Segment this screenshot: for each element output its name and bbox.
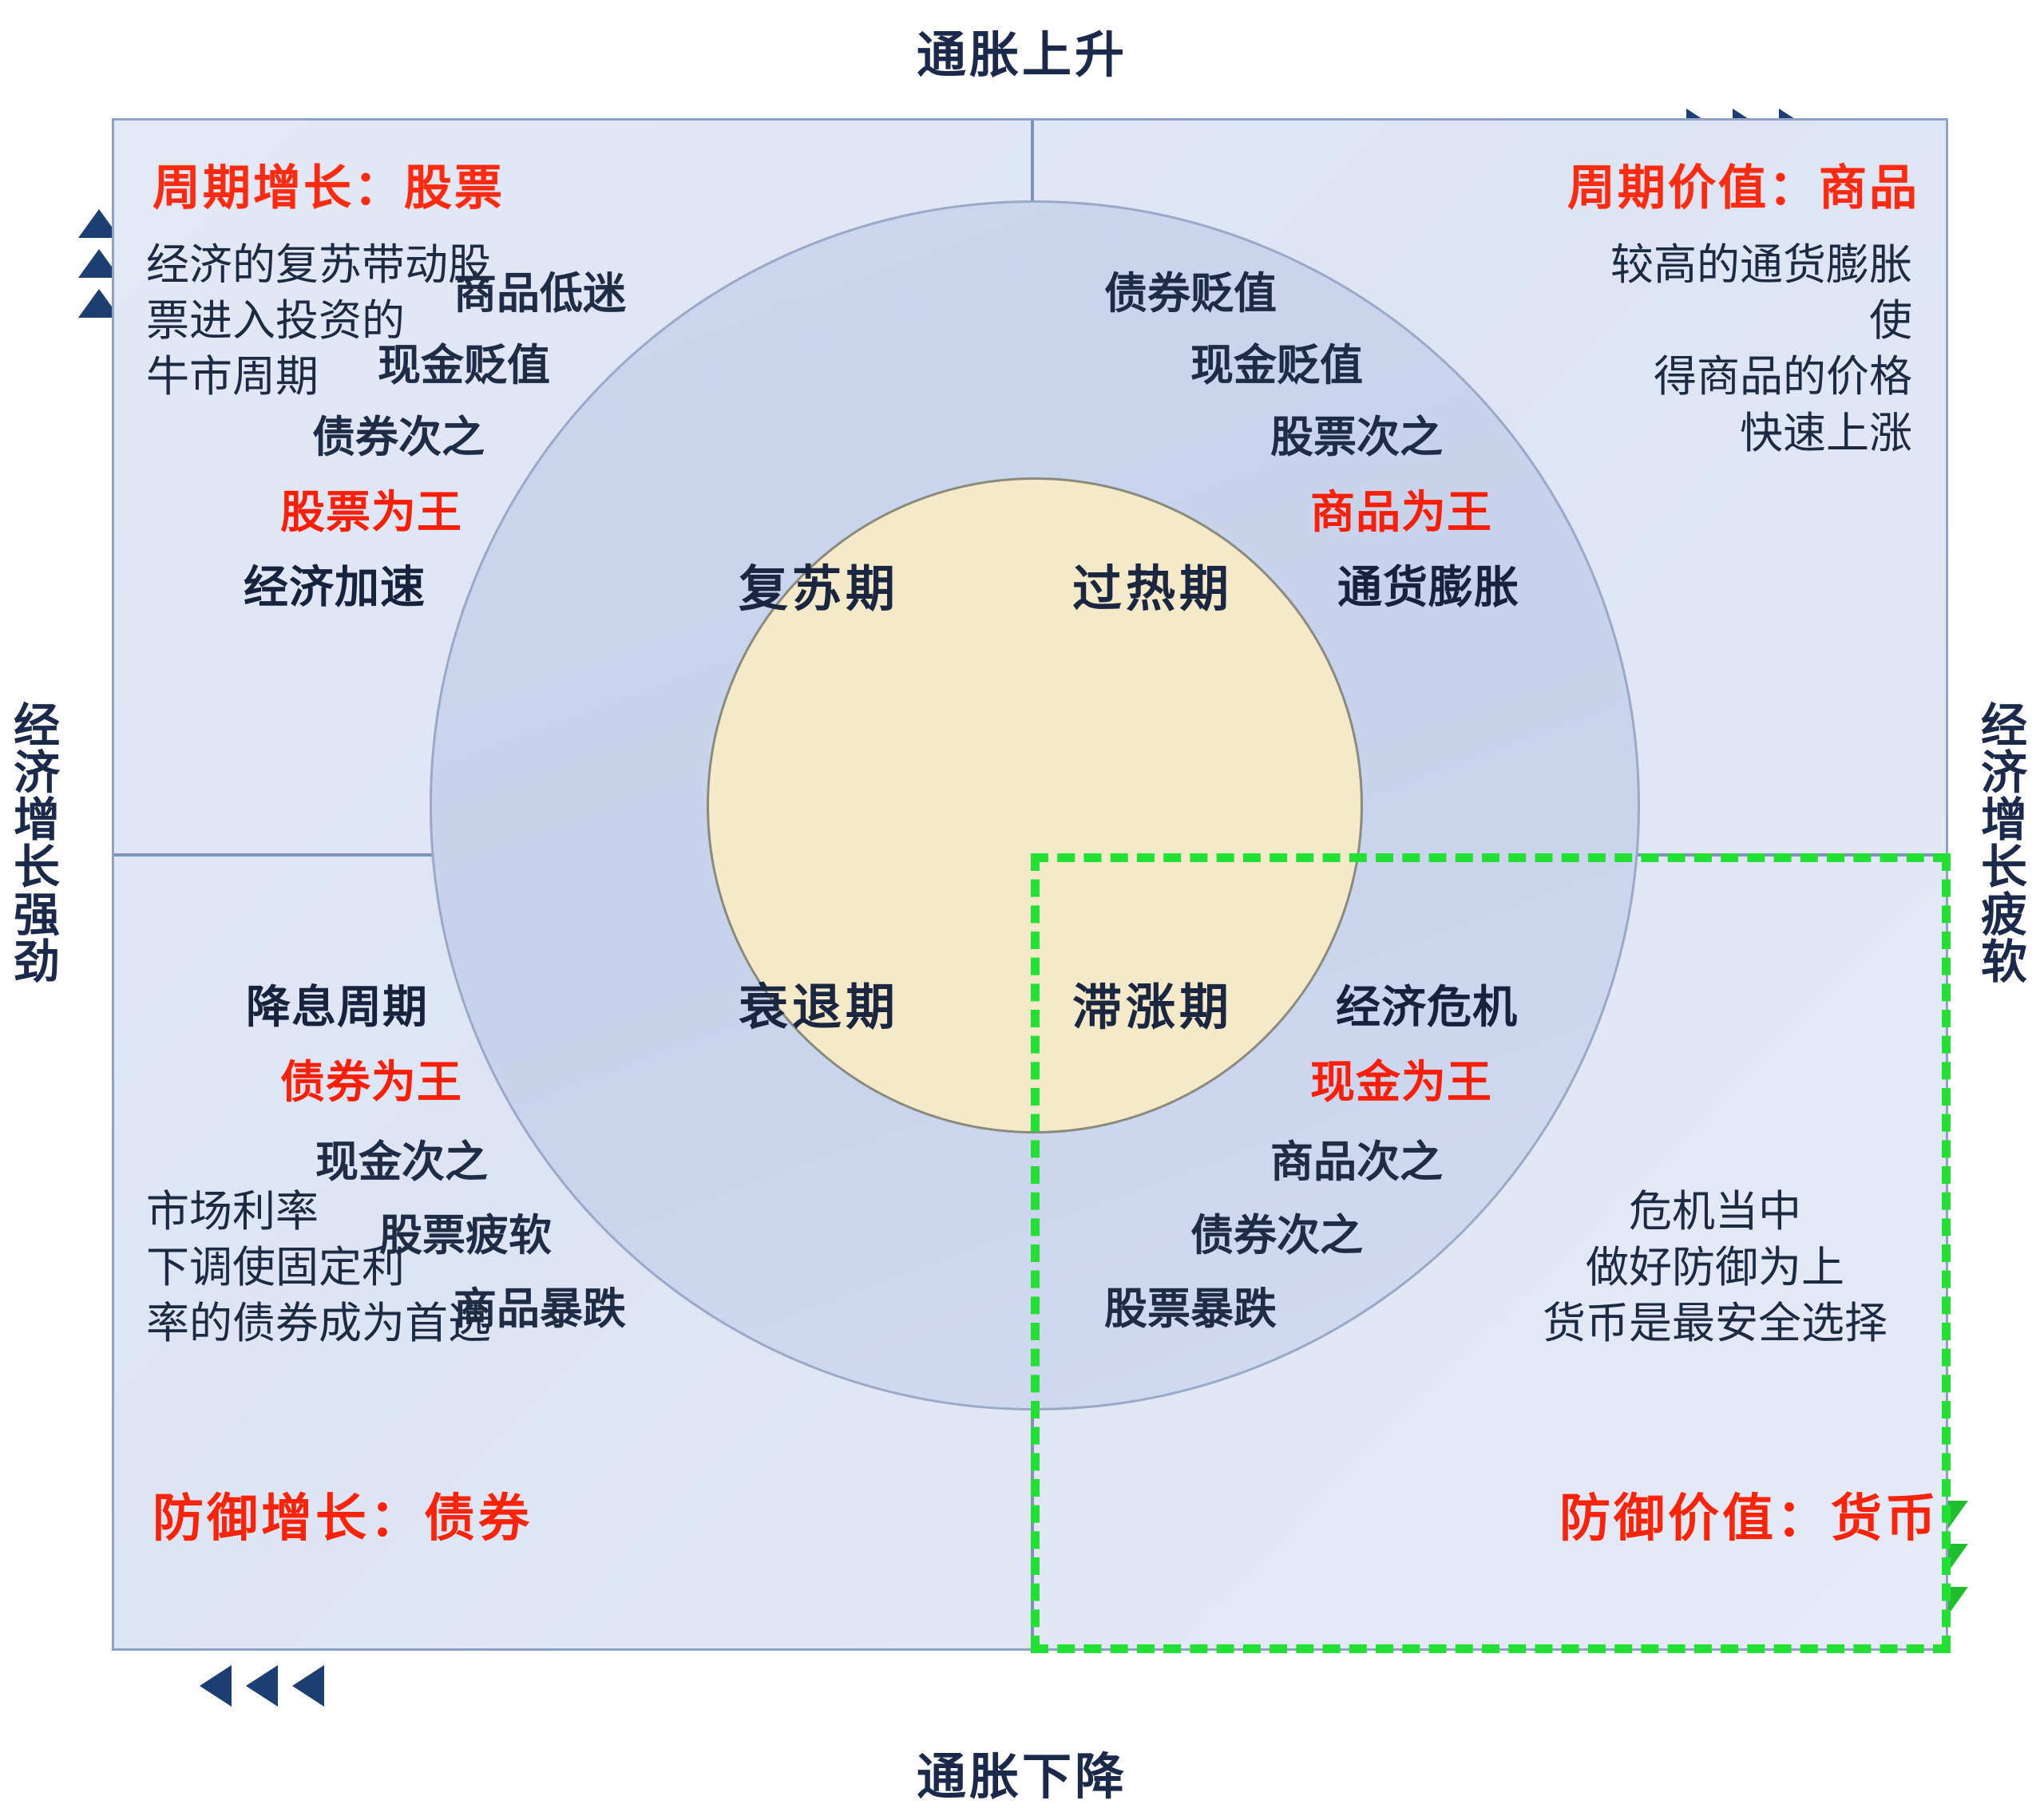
economic-state-bottom-left: 降息周期 bbox=[246, 971, 428, 1036]
economic-state-top-left: 经济加速 bbox=[244, 552, 426, 616]
top-axis-label: 通胀上升 bbox=[0, 14, 2044, 86]
left-axis-char: 强 bbox=[3, 892, 72, 939]
asset-king-top-right: 商品为王 bbox=[1310, 477, 1492, 541]
ring-text-top-left-3: 债券次之 bbox=[312, 402, 485, 465]
right-axis-char: 增 bbox=[1971, 797, 2039, 844]
left-axis-char: 经 bbox=[3, 702, 72, 750]
chevron-left-icon bbox=[246, 1665, 278, 1707]
ring-text-top-right-2: 现金贬值 bbox=[1190, 330, 1363, 393]
chevron-left-icon bbox=[200, 1665, 232, 1707]
ring-text-bottom-right-2: 债券次之 bbox=[1190, 1200, 1363, 1263]
ring-text-bottom-right-3: 股票暴跌 bbox=[1104, 1273, 1277, 1336]
right-axis-char: 济 bbox=[1971, 750, 2039, 797]
quadrant-title-top-right: 周期价值：商品 bbox=[1567, 149, 1919, 219]
ring-text-top-left-2: 现金贬值 bbox=[378, 330, 550, 393]
left-axis-char: 增 bbox=[3, 797, 72, 844]
quadrant-description-bottom-left: 市场利率 下调使固定利 率的债券成为首选 bbox=[146, 1184, 491, 1352]
right-axis-char: 长 bbox=[1971, 844, 2039, 891]
chevron-left-triple-icon bbox=[200, 1665, 324, 1707]
phase-label-recession: 衰退期 bbox=[739, 967, 899, 1039]
asset-king-top-left: 股票为王 bbox=[280, 477, 462, 541]
quadrant-title-bottom-left: 防御增长：债券 bbox=[153, 1478, 533, 1551]
quadrant-title-top-left: 周期增长：股票 bbox=[153, 149, 505, 219]
ring-text-bottom-right-1: 商品次之 bbox=[1270, 1126, 1443, 1189]
ring-text-bottom-left-1: 现金次之 bbox=[315, 1126, 488, 1189]
phase-label-recovery: 复苏期 bbox=[739, 548, 899, 620]
investment-clock-chart: 周期增长：股票 经济的复苏带动股 票进入投资的 牛市周期 商品低迷 现金贬值 债… bbox=[112, 118, 1948, 1651]
chevron-left-icon bbox=[292, 1665, 324, 1707]
quadrant-description-bottom-right: 危机当中 做好防御为上 货币是最安全选择 bbox=[1519, 1184, 1911, 1352]
left-axis-label: 经 济 增 长 强 劲 bbox=[3, 702, 72, 986]
bottom-axis-label: 通胀下降 bbox=[0, 1736, 2044, 1808]
economic-state-bottom-right: 经济危机 bbox=[1336, 971, 1518, 1036]
left-axis-char: 济 bbox=[3, 750, 72, 797]
right-axis-char: 疲 bbox=[1971, 892, 2039, 939]
asset-king-bottom-left: 债券为王 bbox=[280, 1046, 462, 1111]
ring-text-top-right-1: 债券贬值 bbox=[1104, 258, 1277, 321]
ring-text-top-right-3: 股票次之 bbox=[1270, 402, 1443, 465]
right-axis-label: 经 济 增 长 疲 软 bbox=[1971, 702, 2039, 986]
quadrant-title-bottom-right: 防御价值：货币 bbox=[1559, 1478, 1939, 1551]
economic-state-top-right: 通货膨胀 bbox=[1337, 552, 1519, 616]
phase-label-overheat: 过热期 bbox=[1072, 548, 1233, 620]
right-axis-char: 经 bbox=[1971, 702, 2039, 750]
ring-text-top-left-1: 商品低迷 bbox=[454, 258, 626, 321]
phase-label-stagflation: 滞涨期 bbox=[1072, 967, 1233, 1039]
asset-king-bottom-right: 现金为王 bbox=[1310, 1046, 1492, 1111]
right-axis-char: 软 bbox=[1971, 939, 2039, 986]
quadrant-description-top-right: 较高的通货膨胀使 得商品的价格 快速上涨 bbox=[1569, 237, 1912, 461]
left-axis-char: 劲 bbox=[3, 939, 72, 986]
left-axis-char: 长 bbox=[3, 844, 72, 891]
